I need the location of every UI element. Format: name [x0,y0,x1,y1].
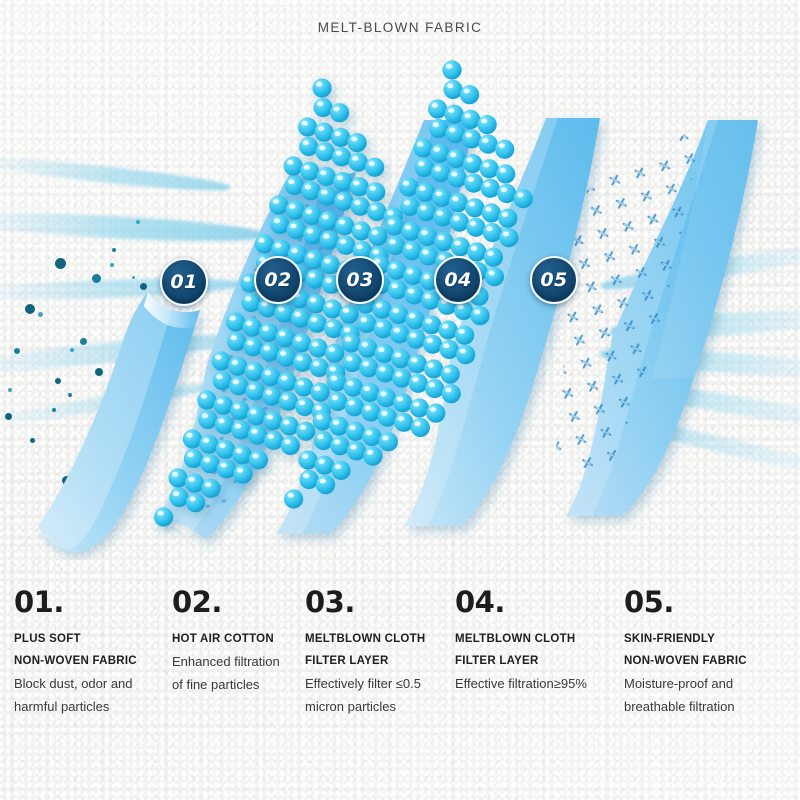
caption-head-line1: SKIN-FRIENDLY [624,628,799,650]
caption-number: 03. [305,585,475,619]
caption-body-line1: Block dust, odor and [14,672,174,695]
caption-head-line1: MELTBLOWN CLOTH [455,628,635,650]
caption-number: 05. [624,585,799,619]
caption-body-line1: Effectively filter ≤0.5 [305,672,475,695]
caption-head-line2: FILTER LAYER [455,650,635,672]
caption-body-line1: Moisture-proof and [624,672,799,695]
caption-item-04: 04. MELTBLOWN CLOTH FILTER LAYER Effecti… [455,585,635,695]
caption-item-01: 01. PLUS SOFT NON-WOVEN FABRIC Block dus… [14,585,174,718]
page-title: MELT-BLOWN FABRIC [0,20,800,35]
caption-item-05: 05. SKIN-FRIENDLY NON-WOVEN FABRIC Moist… [624,585,799,718]
caption-head-line2: NON-WOVEN FABRIC [624,650,799,672]
caption-body-line2: harmful particles [14,695,174,718]
caption-grid: 01. PLUS SOFT NON-WOVEN FABRIC Block dus… [0,585,800,755]
caption-body-line2: micron particles [305,695,475,718]
layer-badge-02[interactable]: 02 [254,256,302,304]
infographic-page: MELT-BLOWN FABRIC [0,0,800,800]
caption-number: 01. [14,585,174,619]
fabric-layers-illustration: 01 02 03 04 05 [0,48,800,560]
caption-item-03: 03. MELTBLOWN CLOTH FILTER LAYER Effecti… [305,585,475,718]
caption-head-line1: MELTBLOWN CLOTH [305,628,475,650]
layer-badge-05[interactable]: 05 [530,256,578,304]
caption-head-line2: FILTER LAYER [305,650,475,672]
caption-head-line2: NON-WOVEN FABRIC [14,650,174,672]
layer-badge-04[interactable]: 04 [434,256,482,304]
layer-badge-01[interactable]: 01 [160,258,208,306]
fabric-sheets-svg [0,48,800,560]
caption-body-line2: breathable filtration [624,695,799,718]
caption-head-line1: PLUS SOFT [14,628,174,650]
caption-number: 04. [455,585,635,619]
layer-badge-03[interactable]: 03 [336,256,384,304]
caption-body-line1: Effective filtration≥95% [455,672,635,695]
